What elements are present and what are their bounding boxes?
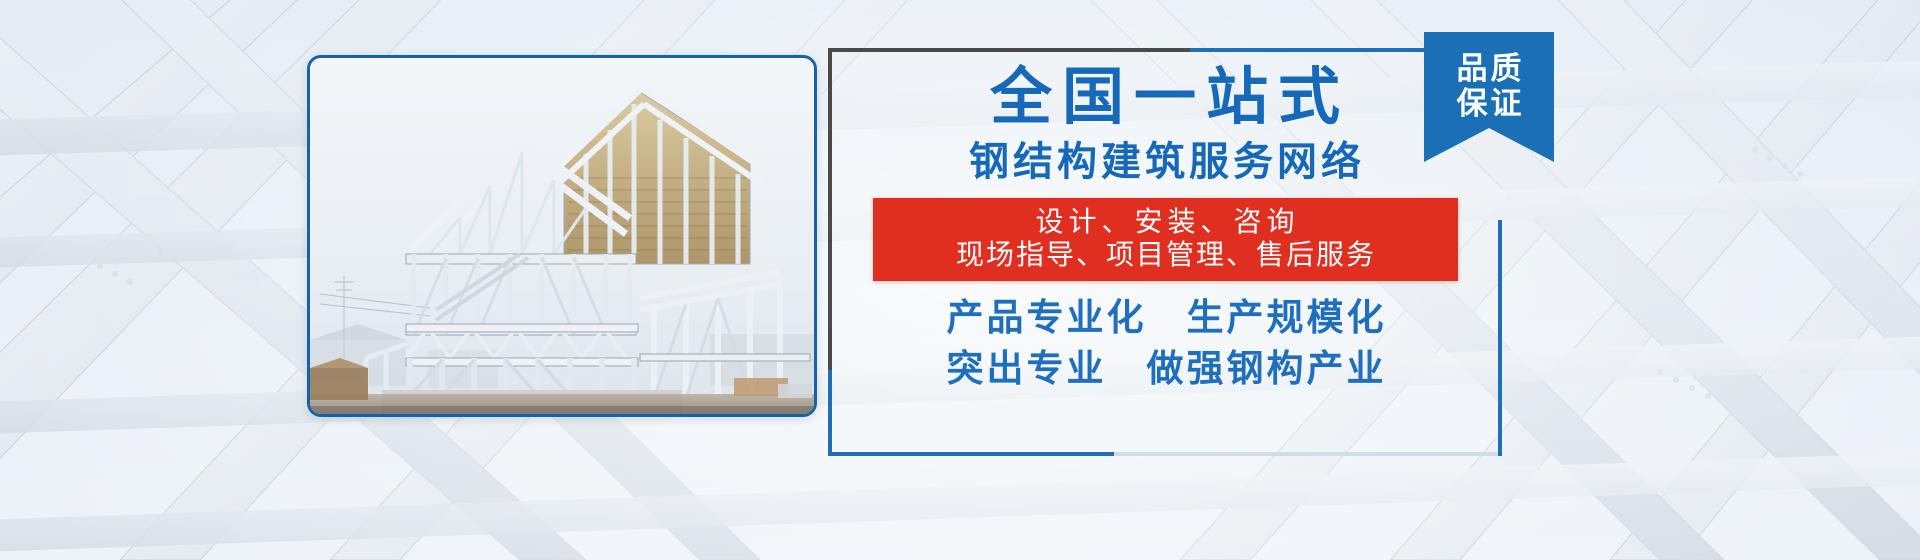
banner-stage: 全国一站式 钢结构建筑服务网络 设计、安装、咨询 现场指导、项目管理、售后服务 … (0, 0, 1920, 560)
construction-photo-card (307, 55, 817, 417)
services-line-1: 设计、安装、咨询 (1030, 205, 1299, 238)
subheadline-title: 钢结构建筑服务网络 (965, 142, 1365, 182)
tagline-1: 产品专业化 生产规模化 (944, 295, 1387, 340)
badge-line-1: 品质 (1424, 52, 1554, 87)
tagline-2: 突出专业 做强钢构产业 (944, 346, 1387, 391)
headline-title: 全国一站式 (980, 66, 1350, 128)
badge-text-block: 品质 保证 (1424, 52, 1554, 123)
steel-frame-house-photo (310, 58, 814, 414)
promo-text-panel: 全国一站式 钢结构建筑服务网络 设计、安装、咨询 现场指导、项目管理、售后服务 … (828, 48, 1502, 456)
services-red-box: 设计、安装、咨询 现场指导、项目管理、售后服务 (873, 198, 1458, 281)
badge-line-2: 保证 (1424, 87, 1554, 122)
services-line-2: 现场指导、项目管理、售后服务 (954, 238, 1376, 271)
quality-guarantee-badge: 品质 保证 (1424, 32, 1554, 162)
